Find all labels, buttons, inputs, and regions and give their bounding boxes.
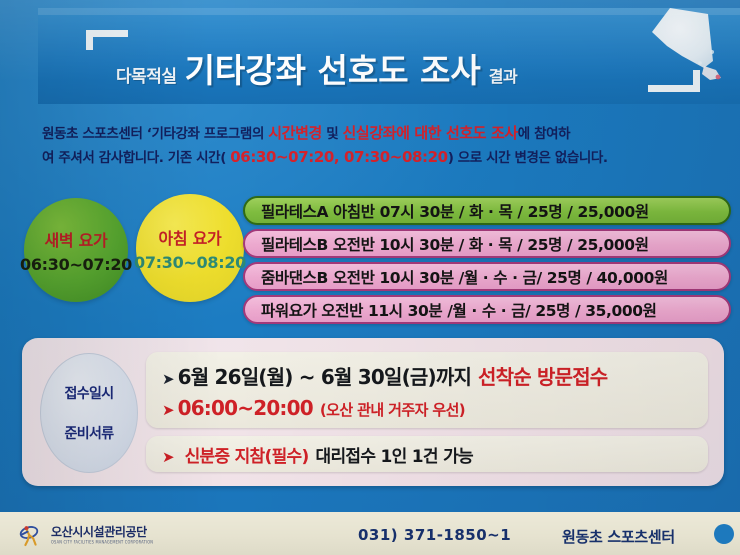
course-row: 파워요가 오전반 11시 30분 /월 · 수 · 금/ 25명 / 35,00… <box>243 295 731 324</box>
proxy-registration-text: 대리접수 1인 1건 가능 <box>316 442 473 467</box>
poster-title: 다목적실 기타강좌 선호도 조사 결과 <box>116 44 517 92</box>
arrow-right-icon: ➤ <box>162 372 175 387</box>
intro-seg4-highlight: 신실강좌에 대한 선호도 조사 <box>343 124 518 142</box>
logo-name-en: OSAN CITY FACILITIES MANAGEMENT CORPORAT… <box>51 541 153 545</box>
intro-seg6: 여 주셔서 감사합니다. 기존 시간( <box>42 150 230 166</box>
registration-period-text: 6월 26일(월) ~ 6월 30일(금)까지 <box>178 361 471 390</box>
course-row: 필라테스A 아침반 07시 30분 / 화 · 목 / 25명 / 25,000… <box>243 196 731 225</box>
intro-seg3: 및 <box>322 126 343 142</box>
course-row: 필라테스B 오전반 10시 30분 / 화 · 목 / 25명 / 25,000… <box>243 229 731 258</box>
organization-logo: 오산시시설관리공단 OSAN CITY FACILITIES MANAGEMEN… <box>18 522 153 548</box>
footer-bar: 오산시시설관리공단 OSAN CITY FACILITIES MANAGEMEN… <box>0 512 740 555</box>
intro-seg8: ) 으로 시간 변경은 없습니다. <box>448 150 608 166</box>
yoga-circle-dawn-title: 새벽 요가 <box>45 227 108 251</box>
yoga-circle-morning-time: 07:30~08:20 <box>134 253 246 272</box>
intro-seg7-highlight: 06:30~07:20, 07:30~08:20 <box>230 148 447 166</box>
running-figure-logo-icon <box>18 522 44 548</box>
title-suffix: 결과 <box>489 63 517 87</box>
yoga-circle-morning: 아침 요가 07:30~08:20 <box>136 194 244 302</box>
yoga-circle-dawn: 새벽 요가 06:30~07:20 <box>24 198 128 302</box>
oval-label-documents: 준비서류 <box>64 423 113 443</box>
registration-hours-text: 06:00~20:00 <box>178 396 313 420</box>
yoga-circle-morning-title: 아침 요가 <box>159 225 222 249</box>
registration-line-2: ➤ 06:00~20:00 (오산 관내 거주자 우선) <box>162 396 692 420</box>
burst-cone-icon <box>612 8 732 96</box>
oval-label-receipt-date: 접수일시 <box>64 383 113 403</box>
poster-root: 다목적실 기타강좌 선호도 조사 결과 원동초 스포츠센터 ‘기타강좌 프로그램… <box>0 0 740 555</box>
footer-dot-decoration <box>714 524 734 544</box>
intro-paragraph: 원동초 스포츠센터 ‘기타강좌 프로그램의 시간변경 및 신실강좌에 대한 선호… <box>42 122 722 170</box>
registration-label-oval: 접수일시 준비서류 <box>40 353 138 473</box>
registration-priority-note: (오산 관내 거주자 우선) <box>320 399 465 420</box>
title-main: 기타강좌 선호도 조사 <box>185 44 481 92</box>
registration-line-3: ➤ 신분증 지참(필수) 대리접수 1인 1건 가능 <box>162 442 692 467</box>
title-prefix: 다목적실 <box>116 62 177 87</box>
intro-seg5: 에 참여하 <box>518 126 570 142</box>
registration-panel: 접수일시 준비서류 ➤ 6월 26일(월) ~ 6월 30일(금)까지 선착순 … <box>22 338 724 486</box>
registration-info-box-bottom: ➤ 신분증 지참(필수) 대리접수 1인 1건 가능 <box>146 436 708 472</box>
contact-phone: 031) 371-1850~1 <box>358 526 511 544</box>
intro-seg2-highlight: 시간변경 <box>268 124 322 142</box>
logo-name-ko: 오산시시설관리공단 <box>51 526 153 538</box>
required-id-text: 신분증 지참(필수) <box>185 442 309 467</box>
registration-method-text: 선착순 방문접수 <box>478 361 607 390</box>
registration-info-box-top: ➤ 6월 26일(월) ~ 6월 30일(금)까지 선착순 방문접수 ➤ 06:… <box>146 352 708 428</box>
course-row: 줌바댄스B 오전반 10시 30분 /월 · 수 · 금/ 25명 / 40,0… <box>243 262 731 291</box>
poster-sheet: 다목적실 기타강좌 선호도 조사 결과 원동초 스포츠센터 ‘기타강좌 프로그램… <box>0 0 740 512</box>
intro-seg1: 원동초 스포츠센터 ‘기타강좌 프로그램의 <box>42 126 268 142</box>
registration-line-1: ➤ 6월 26일(월) ~ 6월 30일(금)까지 선착순 방문접수 <box>162 361 692 390</box>
yoga-circle-dawn-time: 06:30~07:20 <box>20 255 132 274</box>
sports-center-name: 원동초 스포츠센터 <box>562 526 675 547</box>
arrow-right-icon: ➤ <box>162 403 175 418</box>
header-band: 다목적실 기타강좌 선호도 조사 결과 <box>38 8 740 104</box>
arrow-right-icon: ➤ <box>162 450 175 465</box>
